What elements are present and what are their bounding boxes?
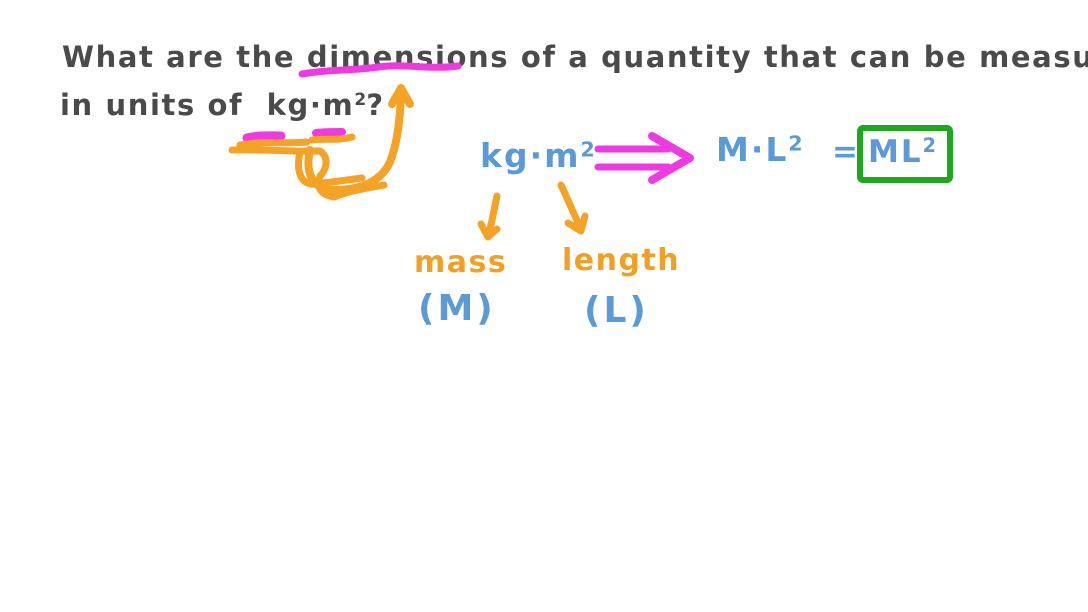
orange-curved-arrow-sweep bbox=[299, 152, 362, 184]
question-line-2: in units of kg·m2? bbox=[60, 88, 385, 122]
orange-arrow-to-mass bbox=[489, 196, 497, 233]
magenta-underline-m bbox=[316, 132, 342, 133]
boxed-answer-exponent: 2 bbox=[923, 134, 936, 157]
boxed-answer-base: ML bbox=[868, 134, 923, 170]
length-symbol: (L) bbox=[584, 290, 649, 331]
orange-arrow-to-length bbox=[561, 185, 580, 227]
worksheet-canvas: What are the dimensions of a quantity th… bbox=[0, 0, 1088, 612]
dimensions-expression: M·L2 bbox=[716, 130, 803, 169]
orange-curved-arrow bbox=[232, 150, 384, 197]
magenta-implies-arrowhead bbox=[652, 136, 690, 180]
magenta-underline-kg bbox=[247, 136, 281, 138]
mass-label: mass bbox=[414, 245, 507, 280]
question-exponent: 2 bbox=[354, 90, 366, 110]
units-expression-exponent: 2 bbox=[581, 137, 595, 161]
length-label: length bbox=[562, 243, 680, 278]
orange-underline-m bbox=[312, 137, 352, 140]
dimensions-expression-base: M·L bbox=[716, 130, 788, 169]
orange-arrowhead-to-mass bbox=[481, 224, 497, 237]
units-expression: kg·m2 bbox=[480, 136, 595, 175]
question-line-2-prefix: in units of kg·m bbox=[60, 88, 354, 122]
units-expression-base: kg·m bbox=[480, 136, 581, 175]
orange-arrowhead-to-length bbox=[568, 216, 585, 231]
mass-symbol: (M) bbox=[418, 288, 496, 329]
dimensions-expression-exponent: 2 bbox=[788, 131, 802, 155]
orange-underline-kg bbox=[240, 142, 307, 145]
boxed-answer: ML2 bbox=[868, 134, 936, 170]
question-line-2-suffix: ? bbox=[366, 88, 384, 122]
orange-arrowhead-up bbox=[392, 88, 410, 104]
question-line-1: What are the dimensions of a quantity th… bbox=[62, 40, 1088, 74]
equals-sign: = bbox=[832, 134, 860, 170]
